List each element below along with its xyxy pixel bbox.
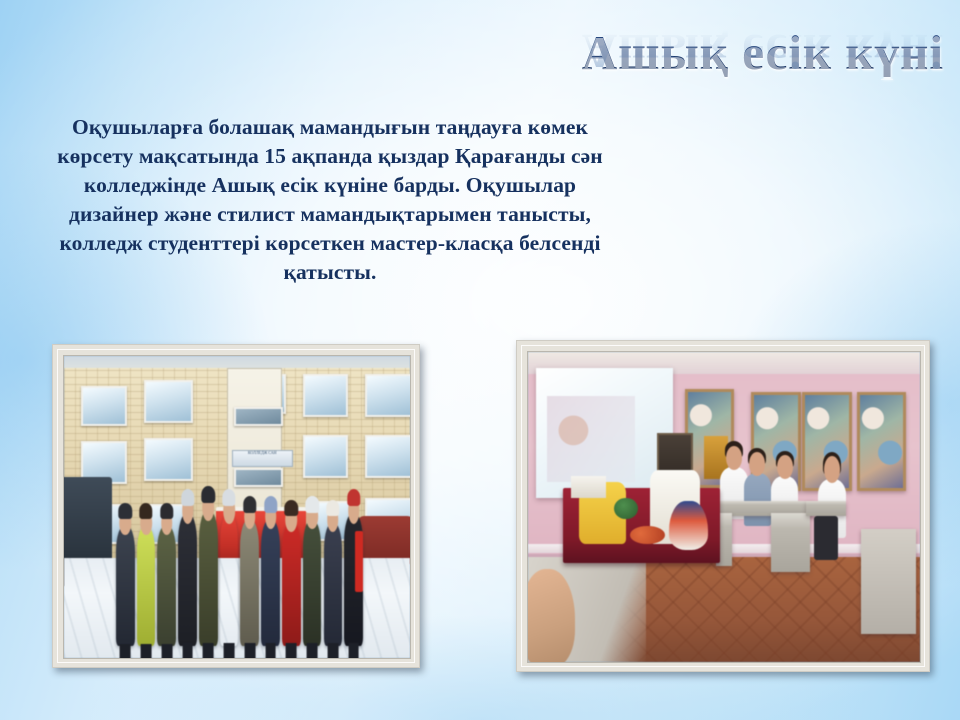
stacked-fabric — [571, 476, 606, 498]
person-legs — [203, 643, 214, 659]
person-legs — [286, 643, 297, 659]
person-legs — [307, 643, 318, 659]
foreground-hand — [527, 569, 575, 663]
body-line: колледж студенттері көрсеткен мастер-кла… — [30, 229, 630, 258]
person-legs — [348, 643, 359, 659]
building-sign: КОЛЛЕДЖ САН — [232, 450, 293, 467]
student — [744, 473, 771, 526]
person-legs — [182, 643, 193, 659]
red-scarf — [355, 531, 364, 591]
person — [324, 522, 343, 646]
person — [116, 525, 135, 646]
student-head — [749, 452, 765, 476]
person-legs — [327, 643, 338, 659]
desk-top — [806, 501, 845, 517]
person-legs — [161, 644, 172, 659]
person-hat — [160, 503, 173, 519]
person — [303, 519, 322, 646]
student-head — [824, 456, 840, 483]
photo-left-image: КОЛЛЕДЖ САН — [63, 355, 411, 659]
person — [261, 519, 280, 646]
person-hat — [264, 496, 277, 512]
body-line: қатысты. — [30, 258, 630, 287]
person-hat — [181, 489, 194, 506]
window — [365, 435, 411, 478]
photo-right-scene — [528, 352, 920, 662]
person — [199, 510, 218, 646]
person — [220, 513, 239, 646]
photo-left-scene: КОЛЛЕДЖ САН — [64, 356, 410, 658]
wall-artwork — [857, 392, 906, 491]
person — [157, 525, 176, 646]
window — [365, 374, 411, 417]
title-reflection: Ашық есік күні — [414, 27, 944, 76]
body-paragraph: Оқушыларға болашақ мамандығын таңдауға к… — [30, 113, 630, 287]
stair-window — [234, 468, 283, 487]
stair-window — [234, 407, 283, 426]
slide-title: Ашық есік күні Ашық есік күні — [414, 28, 944, 124]
person — [282, 522, 301, 646]
person-hat — [202, 486, 215, 504]
green-decor — [614, 498, 638, 520]
photo-frame-left: КОЛЛЕДЖ САН — [52, 344, 420, 668]
craft-items — [630, 526, 665, 545]
photo-frame-right — [516, 340, 930, 672]
student-head — [777, 455, 793, 479]
person-hat — [243, 496, 256, 512]
person-hat — [139, 503, 152, 519]
parked-red-car — [358, 516, 411, 564]
person — [240, 519, 259, 646]
window — [303, 435, 349, 478]
person-legs — [224, 643, 235, 659]
window — [81, 386, 127, 426]
body-line: колледжінде Ашық есік күніне барды. Оқуш… — [30, 171, 630, 200]
person-legs — [244, 643, 255, 659]
person-hat — [347, 489, 360, 506]
person-hat — [285, 500, 298, 516]
window — [303, 374, 349, 417]
person — [178, 513, 197, 646]
chair — [814, 516, 838, 559]
window — [144, 438, 193, 481]
body-line: дизайнер және стилист мамандықтарымен та… — [30, 200, 630, 229]
person — [137, 525, 156, 646]
person-legs — [120, 644, 131, 659]
slide-canvas: Ашық есік күні Ашық есік күні Оқушыларға… — [0, 0, 960, 720]
window — [144, 380, 193, 423]
person-hat — [222, 489, 235, 506]
body-line: көрсету мақсатында 15 ақпанда қыздар Қар… — [30, 142, 630, 171]
person-legs — [141, 644, 152, 659]
student-head — [726, 446, 742, 470]
cabinet — [861, 529, 916, 634]
person-hat — [326, 500, 339, 516]
person-hat — [119, 503, 132, 519]
person-hat — [305, 496, 318, 512]
desk-panel — [771, 513, 810, 572]
person-legs — [265, 643, 276, 659]
photo-right-image — [527, 351, 921, 663]
mannequin-display — [669, 501, 708, 551]
